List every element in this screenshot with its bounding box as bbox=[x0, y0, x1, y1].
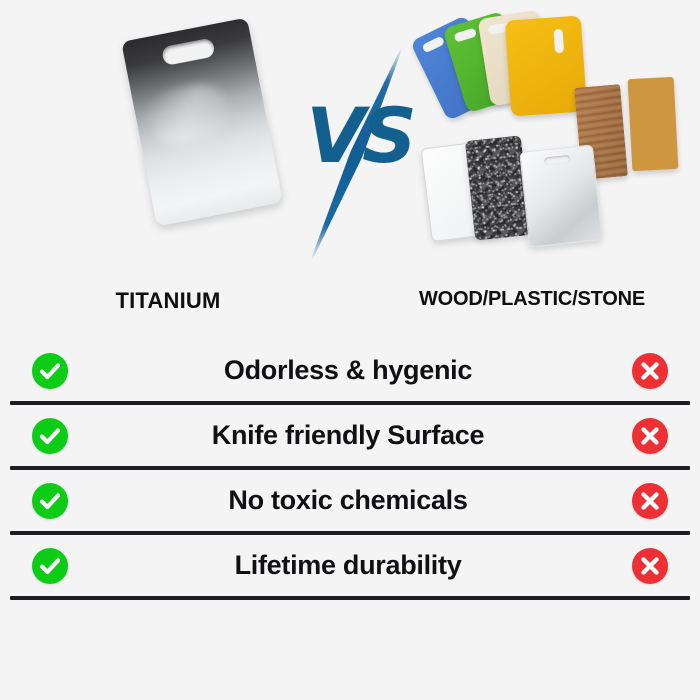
wood-board-light bbox=[628, 77, 679, 171]
versus-label: VS bbox=[300, 98, 420, 174]
check-circle-icon bbox=[32, 548, 68, 584]
plastic-board-yellow-handle-hole bbox=[553, 29, 564, 54]
titanium-board-sheen bbox=[145, 80, 234, 150]
titanium-cutting-board-image bbox=[121, 18, 283, 227]
stone-board-granite-dark bbox=[465, 135, 531, 240]
check-circle-icon bbox=[32, 353, 68, 389]
plastic-board-green-handle-hole bbox=[453, 28, 477, 43]
feature-comparison-table: Odorless & hygenic Knife friendly Surfac… bbox=[0, 340, 700, 600]
comparison-infographic: VS bbox=[0, 0, 700, 700]
product-hero-section: VS bbox=[0, 0, 700, 275]
titanium-board-handle-hole bbox=[161, 38, 216, 67]
feature-label: No toxic chemicals bbox=[100, 485, 600, 516]
other-mark-cell-1 bbox=[600, 418, 700, 454]
x-circle-icon bbox=[632, 483, 668, 519]
column-heading-titanium: TITANIUM bbox=[0, 288, 336, 314]
titanium-mark-cell-0 bbox=[0, 353, 100, 389]
titanium-mark-cell-3 bbox=[0, 548, 100, 584]
table-row: Odorless & hygenic bbox=[0, 340, 700, 401]
column-heading-other-materials: WOOD/PLASTIC/STONE bbox=[364, 288, 700, 311]
table-row: No toxic chemicals bbox=[0, 470, 700, 531]
table-row: Lifetime durability bbox=[0, 535, 700, 596]
titanium-mark-cell-1 bbox=[0, 418, 100, 454]
table-row: Knife friendly Surface bbox=[0, 405, 700, 466]
other-mark-cell-2 bbox=[600, 483, 700, 519]
other-mark-cell-0 bbox=[600, 353, 700, 389]
plastic-board-blue-handle-hole bbox=[421, 36, 445, 54]
x-circle-icon bbox=[632, 353, 668, 389]
x-circle-icon bbox=[632, 548, 668, 584]
check-circle-icon bbox=[32, 418, 68, 454]
other-mark-cell-3 bbox=[600, 548, 700, 584]
check-circle-icon bbox=[32, 483, 68, 519]
feature-label: Lifetime durability bbox=[100, 550, 600, 581]
titanium-mark-cell-2 bbox=[0, 483, 100, 519]
row-divider bbox=[10, 596, 690, 600]
stone-board-grey-handle-hole bbox=[544, 155, 571, 166]
feature-label: Knife friendly Surface bbox=[100, 420, 600, 451]
x-circle-icon bbox=[632, 418, 668, 454]
feature-label: Odorless & hygenic bbox=[100, 355, 600, 386]
stone-boards-group bbox=[426, 138, 616, 243]
stone-board-grey bbox=[519, 144, 603, 247]
versus-badge: VS bbox=[300, 30, 420, 270]
